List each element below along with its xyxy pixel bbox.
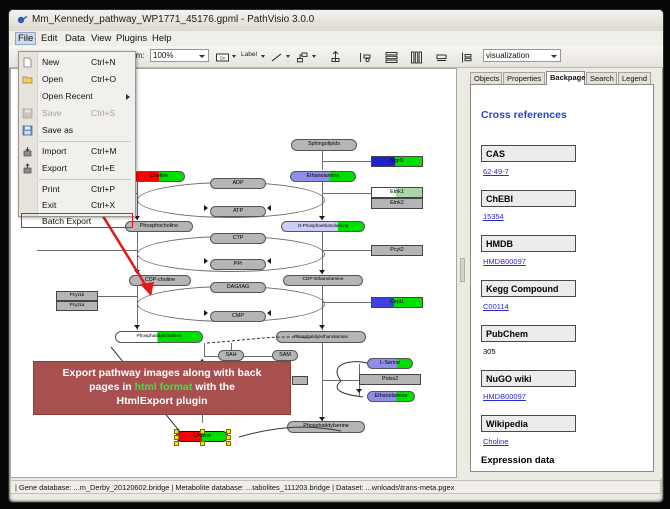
node-etnk1[interactable]: Etnk1 — [371, 187, 423, 198]
align-columns-icon[interactable] — [408, 49, 425, 66]
db-value-hmdb[interactable]: HMDB00097 — [483, 257, 526, 266]
tab-properties[interactable]: Properties — [503, 72, 545, 84]
db-value-cas[interactable]: 62-49-7 — [483, 167, 509, 176]
status-bar: | Gene database: ...m_Derby_20120602.bri… — [10, 480, 661, 494]
menu-item-exit-accel: Ctrl+X — [91, 200, 115, 210]
expression-data-heading: Expression data — [481, 455, 554, 466]
datanode-dropdown-icon[interactable] — [232, 55, 236, 58]
arrow-icon — [319, 216, 325, 220]
edge — [323, 193, 371, 194]
menu-separator — [39, 141, 131, 142]
menu-item-save-label: Save — [42, 108, 62, 118]
edge — [323, 302, 371, 303]
menu-item-save-as-label: Save as — [42, 125, 73, 135]
db-label-hmdb: HMDB — [481, 235, 576, 252]
side-panel: Objects Properties Backpage Search Legen… — [466, 68, 662, 478]
callout-line2-highlight: html format — [135, 381, 193, 393]
callout-line3: HtmlExport plugin — [117, 395, 208, 407]
edge — [323, 250, 371, 251]
db-value-chebi[interactable]: 15354 — [483, 212, 504, 221]
align-rows-icon[interactable] — [383, 49, 400, 66]
node-cept1[interactable]: Cept1 — [371, 297, 423, 308]
callout-text: Export pathway images along with back pa… — [63, 367, 262, 409]
node-ctp[interactable]: CTP — [210, 233, 266, 244]
menu-item-print-label: Print — [42, 184, 60, 194]
line-dropdown-icon[interactable] — [286, 55, 290, 58]
node-ppi[interactable]: PPi — [210, 259, 266, 270]
edge — [323, 161, 371, 162]
menu-data[interactable]: Data — [62, 32, 88, 45]
menu-item-print[interactable]: Print Ctrl+P — [19, 182, 135, 197]
menu-item-exit[interactable]: Exit Ctrl+X — [19, 198, 135, 213]
menu-item-open-label: Open — [42, 74, 63, 84]
node-sgpl1[interactable]: Sgpl1 — [371, 156, 423, 167]
node-dag-iag[interactable]: DAG/IAG — [210, 282, 266, 293]
menu-item-exit-label: Exit — [42, 200, 56, 210]
panel-splitter[interactable] — [458, 68, 466, 478]
screenshot-frame: Mm_Kennedy_pathway_WP1771_45176.gpml - P… — [0, 0, 670, 509]
arrow-icon — [319, 270, 325, 274]
application-window: Mm_Kennedy_pathway_WP1771_45176.gpml - P… — [8, 9, 664, 503]
db-value-nugo-wiki[interactable]: HMDB00097 — [483, 392, 526, 401]
node-etnk2[interactable]: Etnk2 — [371, 198, 423, 209]
menu-edit[interactable]: Edit — [38, 32, 60, 45]
menu-item-open-accel: Ctrl+O — [91, 74, 116, 84]
menu-item-export[interactable]: Export Ctrl+E — [19, 161, 135, 176]
interaction-dropdown-icon[interactable] — [312, 55, 316, 58]
menu-item-print-accel: Ctrl+P — [91, 184, 115, 194]
menu-item-export-label: Export — [42, 163, 67, 173]
save-as-icon — [22, 125, 33, 136]
import-icon — [22, 146, 33, 157]
menu-item-import[interactable]: Import Ctrl+M — [19, 144, 135, 159]
node-atp[interactable]: ATP — [210, 206, 266, 217]
db-value-wikipedia[interactable]: Choline — [483, 437, 508, 446]
arrow-icon — [204, 205, 208, 211]
chevron-right-icon — [126, 94, 130, 100]
callout-line1: Export pathway images along with back — [63, 367, 262, 379]
db-label-pubchem: PubChem — [481, 325, 576, 342]
datanode-icon[interactable]: Gn — [214, 49, 231, 66]
menu-item-new[interactable]: New Ctrl+N — [19, 55, 135, 70]
menu-item-save: Save Ctrl+S — [19, 106, 135, 121]
node-ethanolamine[interactable]: Ethanolamine — [290, 171, 356, 182]
node-pcyt1b[interactable]: Pcyt1b — [56, 291, 98, 301]
node-pcyt1a[interactable]: Pcyt1a — [56, 301, 98, 311]
open-folder-icon — [22, 74, 33, 85]
callout-line2-post: with the — [192, 381, 235, 393]
menu-item-import-accel: Ctrl+M — [91, 146, 117, 156]
tab-legend[interactable]: Legend — [618, 72, 651, 84]
new-file-icon — [22, 57, 33, 68]
splitter-grip[interactable] — [460, 258, 465, 282]
chevron-down-icon — [199, 55, 205, 58]
menu-view[interactable]: View — [88, 32, 114, 45]
menu-help[interactable]: Help — [149, 32, 175, 45]
db-label-cas: CAS — [481, 145, 576, 162]
save-icon — [22, 108, 33, 119]
visualization-combo[interactable]: visualization — [483, 49, 561, 62]
tab-objects[interactable]: Objects — [470, 72, 502, 84]
menu-item-import-label: Import — [42, 146, 66, 156]
menu-bar: File Edit Data View Plugins Help — [9, 31, 663, 47]
arrow-icon — [204, 258, 208, 264]
menu-plugins[interactable]: Plugins — [113, 32, 150, 45]
menu-item-save-as[interactable]: Save as — [19, 123, 135, 138]
arrow-icon — [267, 310, 271, 316]
menu-item-open-recent-label: Open Recent — [42, 91, 93, 101]
menu-item-new-accel: Ctrl+N — [91, 57, 116, 67]
interaction-icon[interactable] — [294, 49, 311, 66]
node-o-phosphoethanolamine[interactable]: O-Phosphoethanolamine — [281, 221, 365, 232]
callout-line2-pre: pages in — [89, 381, 135, 393]
backpage-content[interactable]: Cross references CAS 62-49-7 ChEBI 15354… — [470, 84, 654, 472]
menu-item-open-recent[interactable]: Open Recent — [19, 89, 135, 104]
node-pcyt2[interactable]: Pcyt2 — [371, 245, 423, 256]
stack-icon[interactable] — [458, 49, 475, 66]
pathvisio-icon — [17, 15, 28, 26]
window-title: Mm_Kennedy_pathway_WP1771_45176.gpml - P… — [32, 14, 314, 25]
menu-item-export-accel: Ctrl+E — [91, 163, 115, 173]
title-bar: Mm_Kennedy_pathway_WP1771_45176.gpml - P… — [9, 10, 663, 32]
node-adp[interactable]: ADP — [210, 178, 266, 189]
annotation-callout: Export pathway images along with back pa… — [33, 361, 291, 415]
menu-item-save-accel: Ctrl+S — [91, 108, 115, 118]
align-top-icon[interactable] — [327, 49, 344, 66]
arrow-icon — [204, 310, 208, 316]
label-dropdown-icon[interactable] — [261, 55, 265, 58]
menu-item-open[interactable]: Open Ctrl+O — [19, 72, 135, 87]
db-label-chebi: ChEBI — [481, 190, 576, 207]
menu-file[interactable]: File — [15, 32, 36, 45]
menu-separator — [39, 179, 131, 180]
menu-item-new-label: New — [42, 57, 59, 67]
node-sphingolipids[interactable]: Sphingolipids — [291, 139, 357, 151]
cross-references-heading: Cross references — [481, 109, 567, 121]
tab-search[interactable]: Search — [586, 72, 617, 84]
zoom-combo[interactable]: 100% — [150, 49, 209, 62]
batch-export-highlight — [21, 213, 133, 228]
tab-backpage[interactable]: Backpage — [546, 71, 585, 85]
chevron-down-icon — [551, 55, 557, 58]
label-button[interactable]: Label — [241, 51, 257, 58]
db-label-nugo-wiki: NuGO wiki — [481, 370, 576, 387]
db-value-pubchem: 305 — [483, 347, 496, 356]
export-icon — [22, 163, 33, 174]
visualization-value: visualization — [486, 51, 530, 60]
common-width-icon[interactable] — [433, 49, 450, 66]
svg-text:Gn: Gn — [220, 56, 226, 61]
node-cdp-ethanolamine[interactable]: CDP-Ethanolamine — [283, 275, 363, 286]
zoom-value: 100% — [153, 51, 173, 60]
align-left-icon[interactable] — [357, 49, 374, 66]
arrow-icon — [267, 258, 271, 264]
node-cmp[interactable]: CMP — [210, 311, 266, 322]
line-icon[interactable] — [268, 49, 285, 66]
file-menu-dropdown: New Ctrl+N Open Ctrl+O Open Recent Save … — [18, 51, 136, 217]
db-label-kegg-compound: Kegg Compound — [481, 280, 576, 297]
db-value-kegg-compound[interactable]: C00114 — [483, 302, 509, 311]
arrow-icon — [267, 205, 271, 211]
node-choline[interactable]: Choline — [133, 171, 185, 182]
db-label-wikipedia: Wikipedia — [481, 415, 576, 432]
